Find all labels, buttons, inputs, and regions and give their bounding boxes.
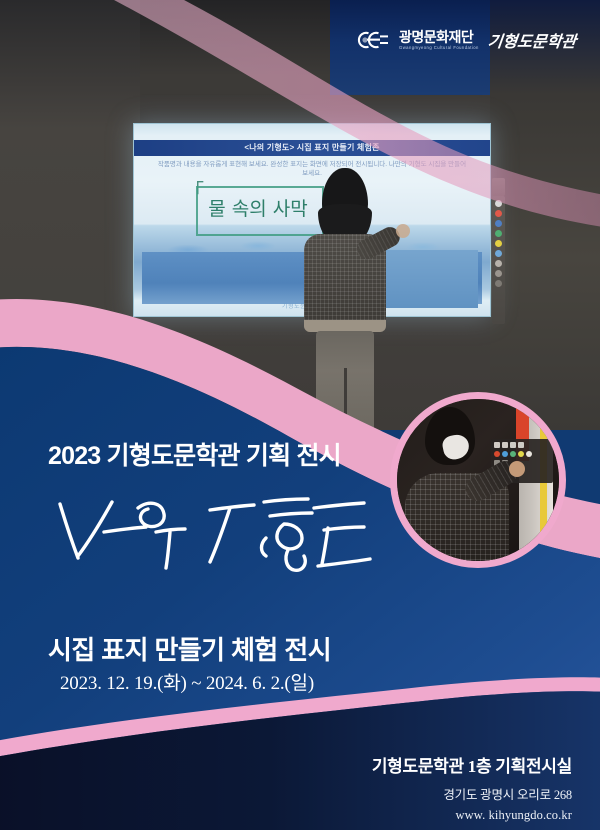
participant-silhouette bbox=[296, 168, 392, 430]
footer-address: 경기도 광명시 오리로 268 bbox=[372, 784, 572, 803]
font-tool-icon bbox=[502, 442, 508, 448]
palette-swatch-icon bbox=[494, 451, 500, 457]
inset-participant-hand bbox=[509, 461, 525, 477]
photo-wall-left bbox=[0, 0, 140, 430]
calligraphy-title-text: 나의 기형도 bbox=[52, 486, 57, 487]
toolbar-swatch-icon bbox=[495, 280, 502, 287]
palette-swatch-icon bbox=[526, 451, 532, 457]
main-photo: <나의 기형도> 시집 표지 만들기 체험존 작품명과 내용을 자유롭게 표현해… bbox=[0, 0, 600, 430]
brush-tool-icon bbox=[518, 442, 524, 448]
toolbar-swatch-icon bbox=[495, 200, 502, 207]
photo-wall-right bbox=[490, 0, 600, 430]
inset-photo-background bbox=[397, 399, 559, 561]
foundation-name-block: 광명문화재단 Gwangmyeong Cultural Foundation bbox=[399, 30, 479, 50]
calligraphy-title: 나의 기형도 bbox=[52, 486, 382, 582]
page-title: 2023 기형도문학관 기획 전시 bbox=[48, 436, 341, 472]
smartboard-color-toolbar bbox=[492, 196, 505, 324]
participant-leg-gap bbox=[344, 368, 347, 430]
inset-photo-circle bbox=[390, 392, 566, 568]
exhibition-dates: 2023. 12. 19.(화) ~ 2024. 6. 2.(일) bbox=[60, 668, 314, 695]
toolbar-swatch-icon bbox=[495, 270, 502, 277]
museum-name-logo: 기형도문학관 bbox=[487, 28, 578, 52]
text-tool-icon bbox=[494, 442, 500, 448]
footer-venue: 기형도문학관 1층 기획전시실 bbox=[372, 752, 572, 777]
participant-hand bbox=[396, 224, 410, 238]
shape-tool-icon bbox=[510, 442, 516, 448]
foundation-name-en: Gwangmyeong Cultural Foundation bbox=[399, 46, 479, 50]
exhibition-poster: <나의 기형도> 시집 표지 만들기 체험존 작품명과 내용을 자유롭게 표현해… bbox=[0, 0, 600, 830]
inset-tool-row bbox=[494, 442, 550, 448]
header-logo-group: 광명문화재단 Gwangmyeong Cultural Foundation 기… bbox=[356, 28, 576, 52]
inset-palette-row bbox=[494, 451, 550, 457]
toolbar-swatch-icon bbox=[495, 240, 502, 247]
footer-url[interactable]: www. kihyungdo.co.kr bbox=[372, 808, 572, 823]
toolbar-swatch-icon bbox=[495, 250, 502, 257]
toolbar-swatch-icon bbox=[495, 220, 502, 227]
palette-swatch-icon bbox=[518, 451, 524, 457]
toolbar-swatch-icon bbox=[495, 260, 502, 267]
toolbar-swatch-icon bbox=[495, 210, 502, 217]
smartboard-toolbar-header bbox=[492, 178, 505, 196]
screen-title-text: <나의 기형도> 시집 표지 만들기 체험존 bbox=[134, 140, 490, 156]
footer-block: 기형도문학관 1층 기획전시실 경기도 광명시 오리로 268 www. kih… bbox=[372, 752, 572, 823]
toolbar-swatch-icon bbox=[495, 230, 502, 237]
calligraphy-strokes bbox=[52, 486, 382, 582]
gcf-monogram-icon bbox=[356, 29, 390, 51]
palette-swatch-icon bbox=[510, 451, 516, 457]
exhibition-subtitle: 시집 표지 만들기 체험 전시 bbox=[48, 630, 331, 667]
foundation-name-kr: 광명문화재단 bbox=[399, 30, 479, 44]
palette-swatch-icon bbox=[502, 451, 508, 457]
